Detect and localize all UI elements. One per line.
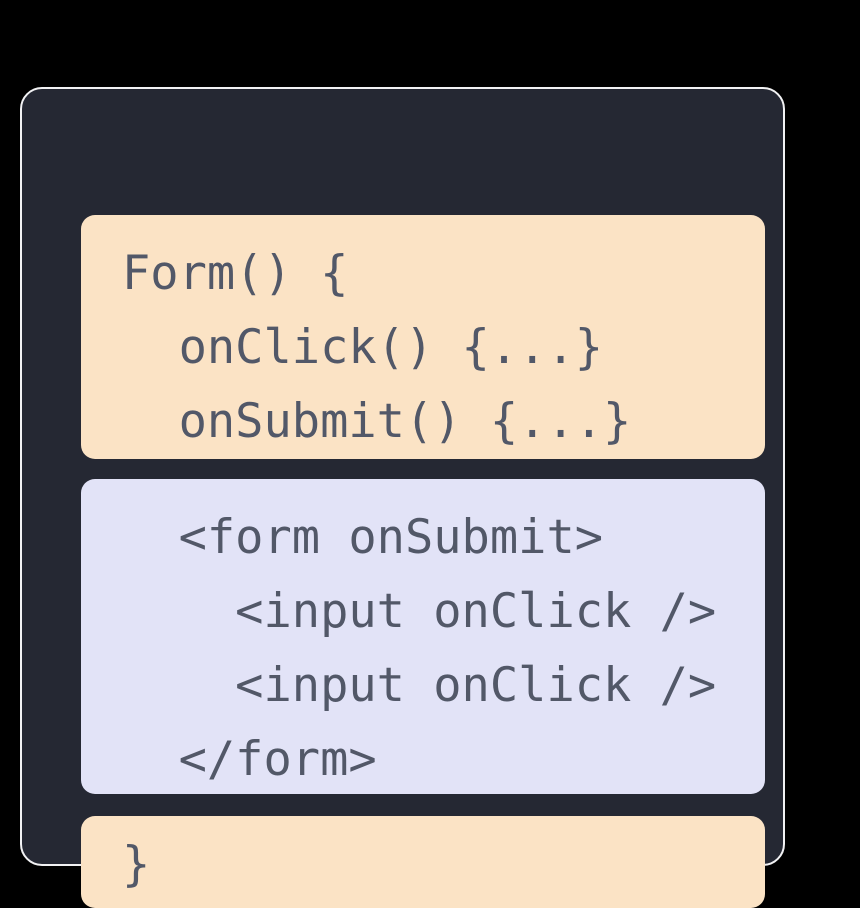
- code-line: <form onSubmit>: [81, 501, 765, 575]
- code-line: onSubmit() {...}: [81, 385, 765, 459]
- code-line: }: [81, 828, 765, 902]
- code-block-function-open: Form() { onClick() {...} onSubmit() {...…: [81, 215, 765, 459]
- code-line: <input onClick />: [81, 575, 765, 649]
- code-line: <input onClick />: [81, 649, 765, 723]
- code-block-function-close: }: [81, 816, 765, 908]
- code-card: Form() { onClick() {...} onSubmit() {...…: [20, 87, 785, 866]
- code-line: </form>: [81, 723, 765, 794]
- page-canvas: Form() { onClick() {...} onSubmit() {...…: [0, 0, 860, 874]
- code-line: onClick() {...}: [81, 311, 765, 385]
- code-line: Form() {: [81, 237, 765, 311]
- code-block-jsx-markup: <form onSubmit> <input onClick /> <input…: [81, 479, 765, 794]
